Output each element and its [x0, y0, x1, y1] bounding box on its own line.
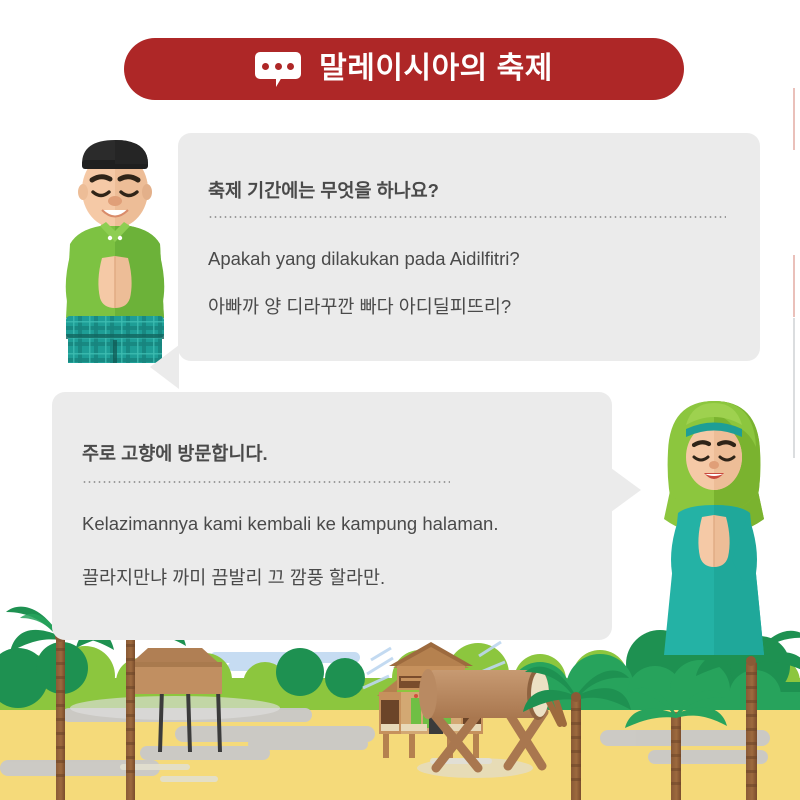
speech-bubble-answer: 주로 고향에 방문합니다. Kelazimannya kami kembali …	[52, 392, 612, 640]
question-korean-transliteration: 아빠까 양 디라꾸깐 빠다 아디딜피뜨리?	[208, 293, 511, 319]
edge-mark-mid	[793, 255, 795, 317]
speech-bubble-question: 축제 기간에는 무엇을 하나요? Apakah yang dilakukan p…	[178, 133, 760, 361]
answer-malay-text: Kelazimannya kami kembali ke kampung hal…	[82, 513, 498, 535]
malay-woman-character	[636, 395, 792, 655]
answer-korean-text: 주로 고향에 방문합니다.	[82, 440, 268, 466]
answer-korean-transliteration: 끌라지만냐 까미 끔발리 끄 깜풍 할라만.	[82, 564, 385, 590]
speech-bubble-icon	[255, 52, 301, 86]
title-banner: 말레이시아의 축제	[124, 38, 684, 100]
page-title: 말레이시아의 축제	[319, 54, 553, 84]
edge-mark-top	[793, 88, 795, 150]
question-korean-text: 축제 기간에는 무엇을 하나요?	[208, 177, 439, 203]
bubble-tail-right	[611, 468, 641, 512]
edge-mark-lower	[793, 318, 795, 458]
dotted-separator	[82, 481, 450, 483]
question-malay-text: Apakah yang dilakukan pada Aidilfitri?	[208, 248, 520, 270]
dotted-separator	[208, 216, 726, 218]
malay-man-character	[40, 128, 190, 363]
poster-canvas: 축제 기간에는 무엇을 하나요? Apakah yang dilakukan p…	[0, 0, 800, 800]
bubble-tail-left	[150, 345, 179, 389]
